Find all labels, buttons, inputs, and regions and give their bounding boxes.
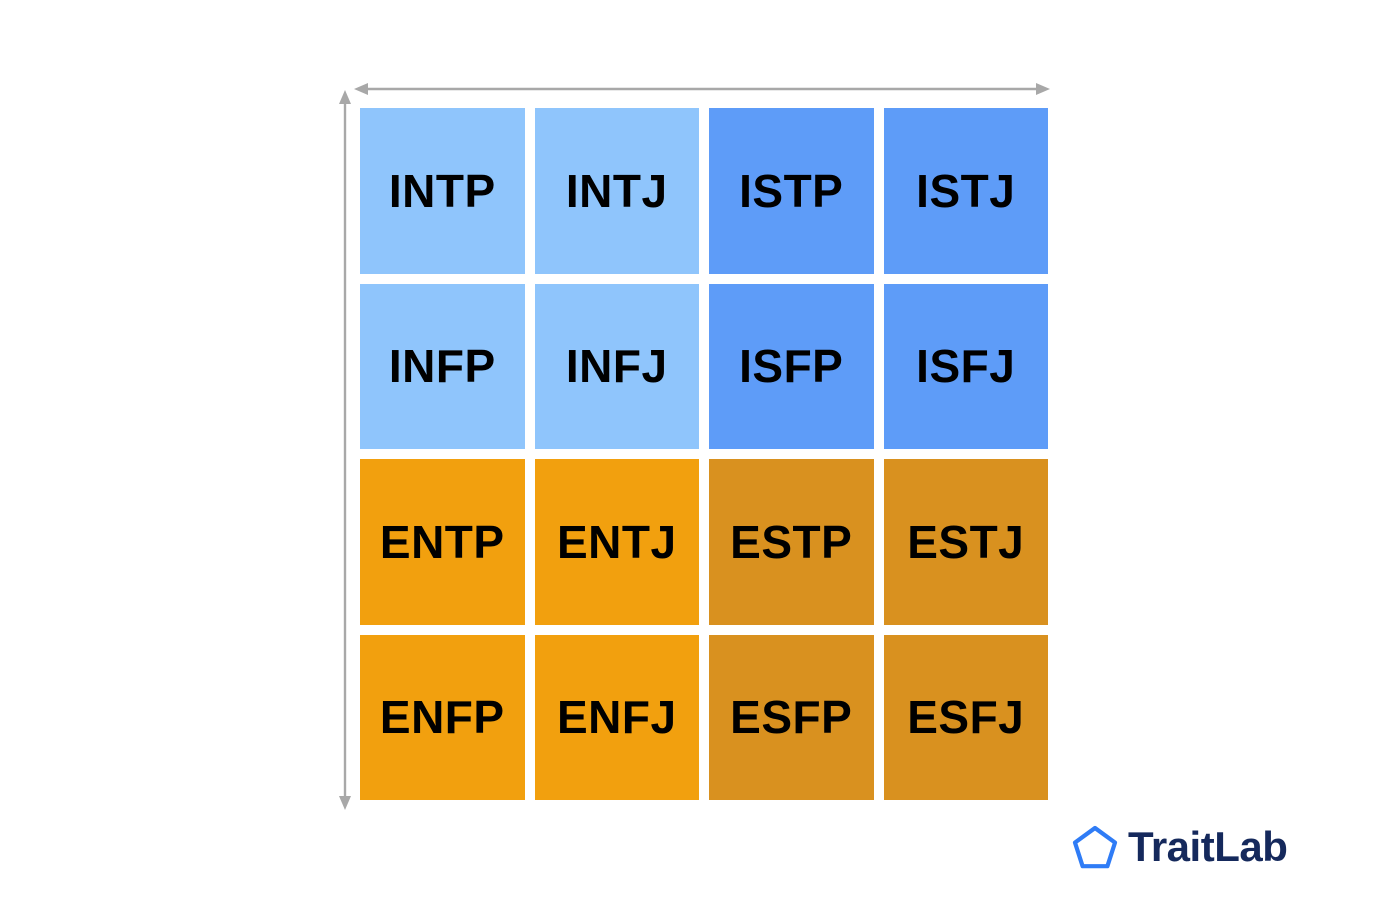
type-cell-label: ESFP — [730, 694, 852, 740]
type-cell-enfj[interactable]: ENFJ — [535, 635, 700, 801]
type-cell-label: ISTJ — [916, 168, 1015, 214]
type-cell-entp[interactable]: ENTP — [360, 459, 525, 625]
type-cell-infj[interactable]: INFJ — [535, 284, 700, 450]
type-cell-estp[interactable]: ESTP — [709, 459, 874, 625]
type-cell-label: ENFP — [380, 694, 505, 740]
type-cell-label: INTJ — [566, 168, 668, 214]
type-cell-isfp[interactable]: ISFP — [709, 284, 874, 450]
type-cell-esfp[interactable]: ESFP — [709, 635, 874, 801]
type-cell-enfp[interactable]: ENFP — [360, 635, 525, 801]
type-cell-istj[interactable]: ISTJ — [884, 108, 1049, 274]
pentagon-icon — [1068, 820, 1122, 874]
type-cell-estj[interactable]: ESTJ — [884, 459, 1049, 625]
type-cell-label: ESFJ — [907, 694, 1024, 740]
type-cell-label: ISTP — [739, 168, 843, 214]
mbti-type-grid: INTP INTJ ISTP ISTJ INFP INFJ ISFP ISFJ … — [360, 108, 1048, 800]
horizontal-axis-arrow-icon — [352, 78, 1052, 100]
type-cell-label: INTP — [389, 168, 496, 214]
type-cell-esfj[interactable]: ESFJ — [884, 635, 1049, 801]
type-cell-istp[interactable]: ISTP — [709, 108, 874, 274]
type-cell-intj[interactable]: INTJ — [535, 108, 700, 274]
type-cell-label: INFJ — [566, 343, 668, 389]
vertical-axis-arrow-icon — [334, 88, 356, 812]
type-cell-label: ESTJ — [907, 519, 1024, 565]
brand-wordmark: TraitLab — [1128, 826, 1287, 868]
type-cell-label: INFP — [389, 343, 496, 389]
type-cell-entj[interactable]: ENTJ — [535, 459, 700, 625]
diagram-canvas: INTP INTJ ISTP ISTJ INFP INFJ ISFP ISFJ … — [0, 0, 1400, 900]
type-cell-intp[interactable]: INTP — [360, 108, 525, 274]
type-cell-label: ENFJ — [557, 694, 677, 740]
type-cell-label: ISFJ — [916, 343, 1015, 389]
brand-logo: TraitLab — [1068, 820, 1287, 874]
type-cell-label: ENTP — [380, 519, 505, 565]
type-cell-label: ISFP — [739, 343, 843, 389]
type-cell-label: ENTJ — [557, 519, 677, 565]
type-cell-isfj[interactable]: ISFJ — [884, 284, 1049, 450]
type-cell-infp[interactable]: INFP — [360, 284, 525, 450]
type-cell-label: ESTP — [730, 519, 852, 565]
